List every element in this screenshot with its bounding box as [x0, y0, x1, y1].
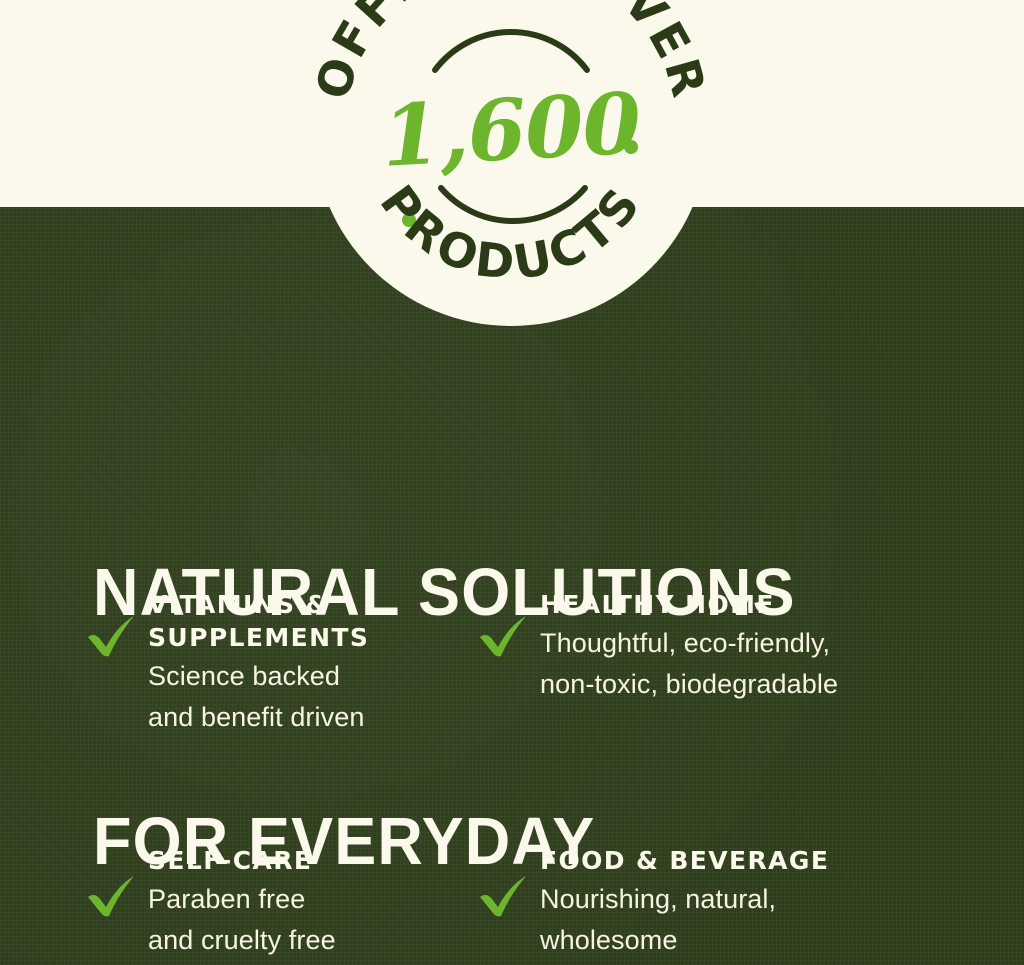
promo-graphic: OFFERING OVER PRODUCTS 1,600 NATURAL SOL… [0, 0, 1024, 965]
feature-item-self-care: SELF-CARE Paraben free and cruelty free [0, 844, 470, 961]
feature-title: HEALTHY HOME [540, 588, 990, 621]
badge-inner-arc-bottom [441, 188, 585, 221]
feature-description: Paraben free and cruelty free [148, 879, 470, 961]
feature-row: SELF-CARE Paraben free and cruelty free … [0, 844, 1024, 961]
check-icon [478, 614, 530, 658]
feature-item-vitamins-supplements: VITAMINS & SUPPLEMENTS Science backed an… [0, 588, 470, 738]
check-icon-wrap [478, 588, 540, 658]
feature-description: Thoughtful, eco-friendly, non-toxic, bio… [540, 623, 990, 705]
feature-row: VITAMINS & SUPPLEMENTS Science backed an… [0, 588, 1024, 738]
check-icon-wrap [478, 844, 540, 918]
badge-inner-arc-top [435, 32, 587, 70]
feature-title: SELF-CARE [148, 844, 470, 877]
feature-list: VITAMINS & SUPPLEMENTS Science backed an… [0, 588, 1024, 961]
feature-title: FOOD & BEVERAGE [540, 844, 990, 877]
feature-description: Science backed and benefit driven [148, 656, 470, 738]
feature-item-food-beverage: FOOD & BEVERAGE Nourishing, natural, who… [470, 844, 990, 961]
check-icon [86, 614, 138, 658]
feature-description: Nourishing, natural, wholesome [540, 879, 990, 961]
feature-item-healthy-home: HEALTHY HOME Thoughtful, eco-friendly, n… [470, 588, 990, 738]
feature-text: HEALTHY HOME Thoughtful, eco-friendly, n… [540, 588, 990, 705]
feature-text: SELF-CARE Paraben free and cruelty free [148, 844, 470, 961]
feature-text: FOOD & BEVERAGE Nourishing, natural, who… [540, 844, 990, 961]
check-icon-wrap [86, 844, 148, 918]
check-icon [86, 874, 138, 918]
check-icon-wrap [86, 588, 148, 658]
feature-title: VITAMINS & SUPPLEMENTS [148, 588, 470, 654]
badge-bottom-arc-text: PRODUCTS [369, 176, 653, 292]
feature-text: VITAMINS & SUPPLEMENTS Science backed an… [148, 588, 470, 738]
check-icon [478, 874, 530, 918]
